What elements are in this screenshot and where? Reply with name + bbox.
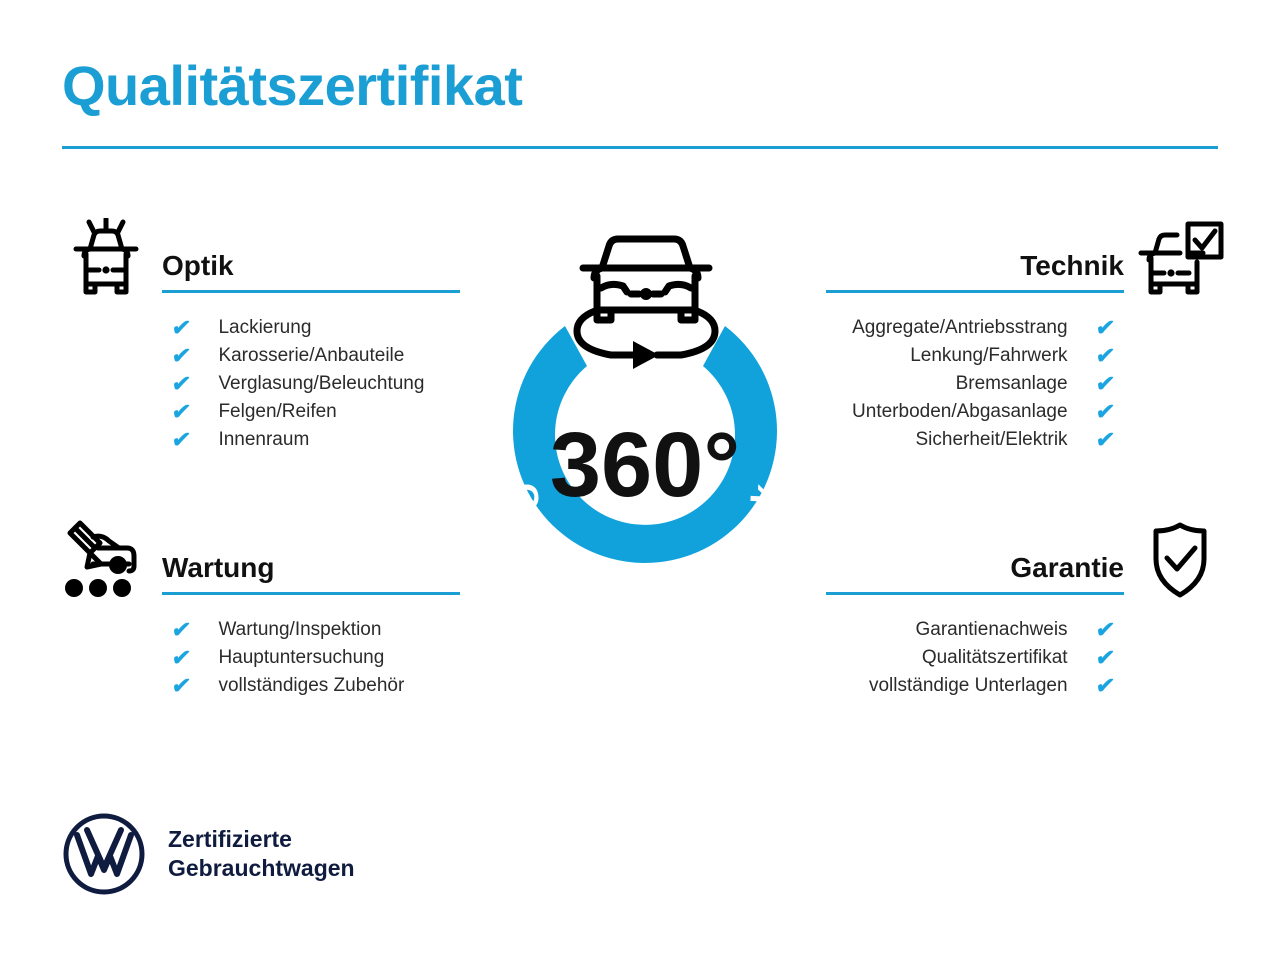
certificate-page: Qualitätszertifikat <box>0 0 1280 960</box>
section-wartung-list: ✔Wartung/Inspektion ✔Hauptuntersuchung ✔… <box>60 616 460 700</box>
section-optik-underline <box>162 290 460 293</box>
list-item: ✔vollständiges Zubehör <box>60 672 460 700</box>
list-item-label: Lenkung/Fahrwerk <box>910 345 1067 367</box>
section-technik-list: Aggregate/Antriebsstrang✔ Lenkung/Fahrwe… <box>826 314 1226 454</box>
section-optik-header: Optik <box>60 218 460 302</box>
list-item-label: Aggregate/Antriebsstrang <box>852 317 1067 339</box>
page-title: Qualitätszertifikat <box>62 58 522 114</box>
list-item-label: Garantienachweis <box>915 619 1067 641</box>
check-icon: ✔ <box>1094 429 1116 451</box>
list-item: ✔Karosserie/Anbauteile <box>60 342 460 370</box>
list-item: Bremsanlage✔ <box>826 370 1226 398</box>
list-item: Qualitätszertifikat✔ <box>826 644 1226 672</box>
list-item-label: vollständige Unterlagen <box>869 675 1068 697</box>
list-item: ✔Lackierung <box>60 314 460 342</box>
check-icon: ✔ <box>170 401 192 423</box>
list-item-label: Wartung/Inspektion <box>218 619 381 641</box>
list-item: Unterboden/Abgasanlage✔ <box>826 398 1226 426</box>
section-technik-underline <box>826 290 1124 293</box>
badge-360-gebrauchtwagen-check: Gebrauchtwagen-Check 360° <box>455 218 835 658</box>
section-garantie-list: Garantienachweis✔ Qualitätszertifikat✔ v… <box>826 616 1226 700</box>
check-icon: ✔ <box>1094 373 1116 395</box>
check-icon: ✔ <box>170 373 192 395</box>
list-item-label: Verglasung/Beleuchtung <box>218 373 424 395</box>
list-item-label: Bremsanlage <box>956 373 1068 395</box>
section-optik-title: Optik <box>162 252 234 280</box>
car-service-pencil-icon <box>60 520 152 600</box>
section-wartung: Wartung ✔Wartung/Inspektion ✔Hauptunters… <box>60 520 460 700</box>
list-item: ✔Hauptuntersuchung <box>60 644 460 672</box>
list-item: Aggregate/Antriebsstrang✔ <box>826 314 1226 342</box>
header-divider <box>62 146 1218 149</box>
list-item-label: vollständiges Zubehör <box>218 675 404 697</box>
section-wartung-title: Wartung <box>162 554 275 582</box>
car-shine-icon <box>60 218 152 298</box>
check-icon: ✔ <box>1094 675 1116 697</box>
list-item-label: Karosserie/Anbauteile <box>218 345 404 367</box>
footer-line-2: Gebrauchtwagen <box>168 854 355 883</box>
list-item: Sicherheit/Elektrik✔ <box>826 426 1226 454</box>
list-item: ✔Felgen/Reifen <box>60 398 460 426</box>
check-icon: ✔ <box>1094 345 1116 367</box>
car-rotate-icon <box>577 239 715 369</box>
section-wartung-underline <box>162 592 460 595</box>
list-item: vollständige Unterlagen✔ <box>826 672 1226 700</box>
section-garantie: Garantie Garantienachweis✔ Qualitätszert… <box>826 520 1226 700</box>
list-item-label: Unterboden/Abgasanlage <box>852 401 1068 423</box>
list-item-label: Sicherheit/Elektrik <box>916 429 1068 451</box>
section-optik: Optik ✔Lackierung ✔Karosserie/Anbauteile… <box>60 218 460 454</box>
vw-logo <box>62 812 146 896</box>
check-icon: ✔ <box>1094 401 1116 423</box>
list-item-label: Hauptuntersuchung <box>218 647 384 669</box>
footer-logo-block: Zertifizierte Gebrauchtwagen <box>62 812 355 896</box>
car-checkbox-icon <box>1134 218 1226 298</box>
shield-check-icon <box>1134 520 1226 600</box>
section-technik: Technik Aggregate/Antriebsstrang✔ Lenkun… <box>826 218 1226 454</box>
check-icon: ✔ <box>1094 317 1116 339</box>
list-item-label: Lackierung <box>218 317 311 339</box>
section-garantie-underline <box>826 592 1124 595</box>
check-icon: ✔ <box>170 675 192 697</box>
list-item: ✔Verglasung/Beleuchtung <box>60 370 460 398</box>
check-icon: ✔ <box>170 647 192 669</box>
section-garantie-header: Garantie <box>826 520 1226 604</box>
check-icon: ✔ <box>1094 647 1116 669</box>
list-item: ✔Wartung/Inspektion <box>60 616 460 644</box>
check-icon: ✔ <box>170 619 192 641</box>
section-wartung-header: Wartung <box>60 520 460 604</box>
list-item: Garantienachweis✔ <box>826 616 1226 644</box>
footer-line-1: Zertifizierte <box>168 825 355 854</box>
check-icon: ✔ <box>170 317 192 339</box>
section-optik-list: ✔Lackierung ✔Karosserie/Anbauteile ✔Verg… <box>60 314 460 454</box>
section-technik-header: Technik <box>826 218 1226 302</box>
check-icon: ✔ <box>170 345 192 367</box>
check-icon: ✔ <box>1094 619 1116 641</box>
list-item: ✔Innenraum <box>60 426 460 454</box>
footer-logo-text: Zertifizierte Gebrauchtwagen <box>168 825 355 883</box>
list-item-label: Qualitätszertifikat <box>922 647 1068 669</box>
list-item-label: Felgen/Reifen <box>218 401 336 423</box>
badge-center-label: 360° <box>550 414 740 516</box>
check-icon: ✔ <box>170 429 192 451</box>
list-item: Lenkung/Fahrwerk✔ <box>826 342 1226 370</box>
section-technik-title: Technik <box>1020 252 1124 280</box>
list-item-label: Innenraum <box>218 429 309 451</box>
section-garantie-title: Garantie <box>1010 554 1124 582</box>
